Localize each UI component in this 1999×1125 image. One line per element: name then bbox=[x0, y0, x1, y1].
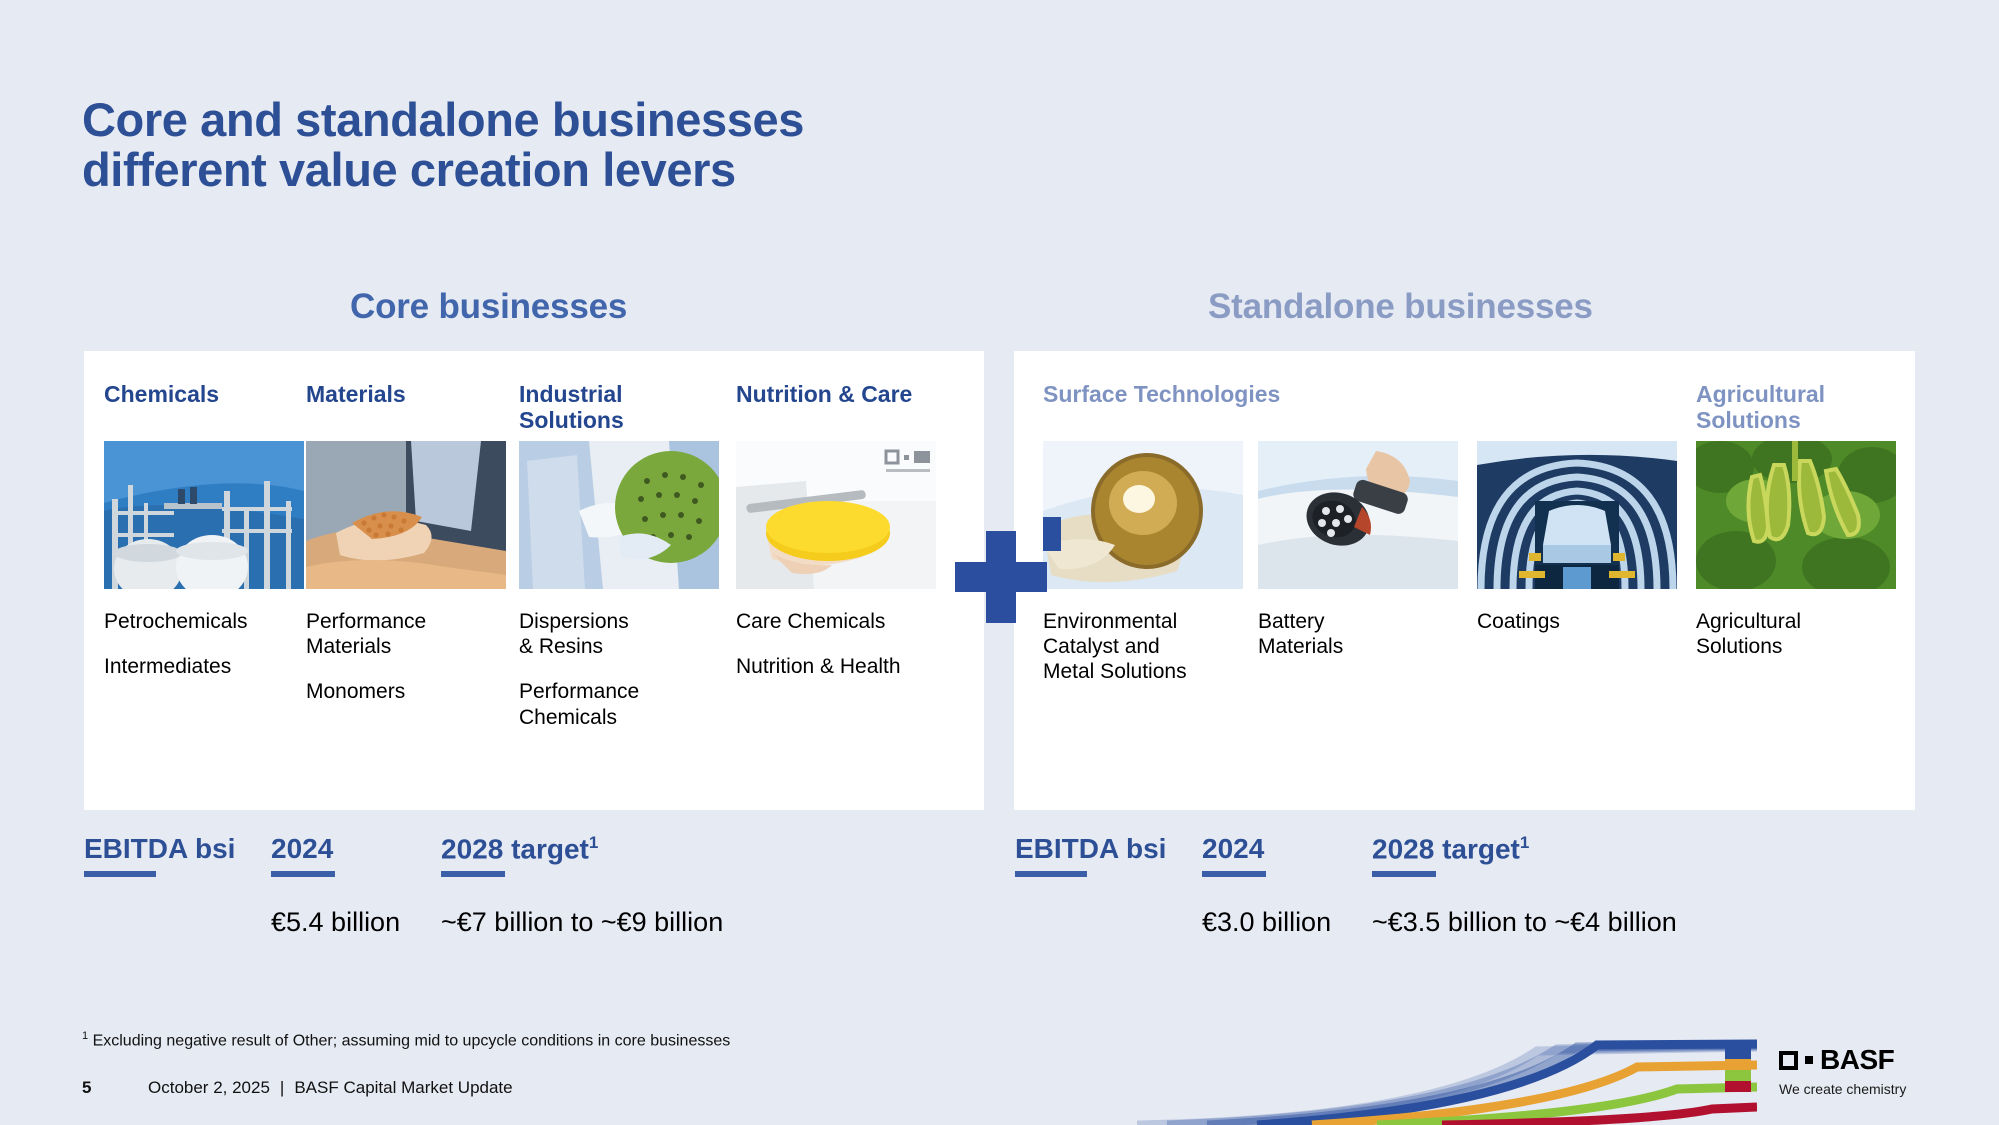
core-item: Monomers bbox=[306, 679, 506, 704]
footnote-marker: 1 bbox=[82, 1030, 88, 1042]
core-item: Nutrition & Health bbox=[736, 654, 936, 679]
title-line-2: different value creation levers bbox=[82, 145, 1282, 195]
page-title: Core and standalone businesses different… bbox=[82, 95, 1282, 196]
yellow-soap-bar-photo bbox=[736, 441, 936, 589]
standalone-item: Battery Materials bbox=[1258, 609, 1458, 659]
core-column-industrial-solutions: Industrial Solutions bbox=[519, 381, 719, 750]
standalone-column-coatings: Coatings bbox=[1477, 381, 1677, 654]
footer-event: BASF Capital Market Update bbox=[294, 1078, 512, 1098]
standalone-ebitda-label: EBITDA bsi bbox=[1015, 833, 1185, 865]
basf-color-stripes bbox=[1725, 1048, 1751, 1092]
footer-date: October 2, 2025 bbox=[148, 1078, 270, 1098]
core-item: Performance Chemicals bbox=[519, 679, 719, 729]
standalone-ebitda-target-text: 2028 target bbox=[1372, 833, 1520, 864]
basf-wordmark-text: BASF bbox=[1820, 1046, 1894, 1074]
core-businesses-heading: Core businesses bbox=[350, 287, 627, 327]
core-ebitda-2028-cell: 2028 target1 ~€7 billion to ~€9 billion bbox=[441, 833, 861, 877]
underline-bar bbox=[84, 871, 156, 877]
basf-logo: BASF We create chemistry bbox=[1779, 1046, 1929, 1097]
core-column-nutrition-care: Nutrition & Care bbox=[736, 381, 936, 699]
core-ebitda-target-text: 2028 target bbox=[441, 833, 589, 864]
standalone-column-environmental-catalyst: Surface Technologies Environmental Catal… bbox=[1043, 381, 1243, 705]
gold-catalyst-honeycomb-photo bbox=[1043, 441, 1243, 589]
page-number: 5 bbox=[82, 1078, 148, 1098]
semiconductor-wafer-photo bbox=[519, 441, 719, 589]
core-item: Dispersions & Resins bbox=[519, 609, 719, 659]
core-ebitda-target-label: 2028 target1 bbox=[441, 833, 861, 865]
footnote: 1 Excluding negative result of Other; as… bbox=[82, 1030, 730, 1050]
core-ebitda-label-cell: EBITDA bsi bbox=[84, 833, 254, 877]
footer: 5 October 2, 2025 | BASF Capital Market … bbox=[82, 1078, 513, 1098]
standalone-item: Agricultural Solutions bbox=[1696, 609, 1896, 659]
basf-ribbon-graphic bbox=[1137, 1015, 1757, 1125]
core-businesses-panel: Chemicals bbox=[84, 351, 984, 810]
hands-holding-granules-photo bbox=[306, 441, 506, 589]
core-item: Care Chemicals bbox=[736, 609, 936, 634]
soybean-pods-photo bbox=[1696, 441, 1896, 589]
title-line-1: Core and standalone businesses bbox=[82, 95, 1282, 145]
core-ebitda-2028-value: ~€7 billion to ~€9 billion bbox=[441, 907, 723, 938]
footnote-marker: 1 bbox=[1520, 833, 1529, 852]
standalone-ebitda-2024-value: €3.0 billion bbox=[1202, 907, 1331, 938]
basf-square-icon bbox=[1779, 1051, 1798, 1070]
standalone-ebitda-2028-value: ~€3.5 billion to ~€4 billion bbox=[1372, 907, 1677, 938]
underline-bar bbox=[1015, 871, 1087, 877]
core-column-header: Chemicals bbox=[104, 381, 304, 437]
plus-icon bbox=[955, 531, 1047, 623]
core-column-header: Industrial Solutions bbox=[519, 381, 719, 437]
underline-bar bbox=[441, 871, 505, 877]
ev-charging-plug-photo bbox=[1258, 441, 1458, 589]
standalone-ebitda-2028-cell: 2028 target1 ~€3.5 billion to ~€4 billio… bbox=[1372, 833, 1832, 877]
standalone-item: Environmental Catalyst and Metal Solutio… bbox=[1043, 609, 1243, 685]
standalone-item: Coatings bbox=[1477, 609, 1677, 634]
automotive-paint-line-photo bbox=[1477, 441, 1677, 589]
core-item: Intermediates bbox=[104, 654, 304, 679]
core-ebitda-2024-value: €5.4 billion bbox=[271, 907, 400, 938]
core-column-chemicals: Chemicals bbox=[104, 381, 304, 699]
core-ebitda-year-label: 2024 bbox=[271, 833, 461, 865]
core-ebitda-label: EBITDA bsi bbox=[84, 833, 254, 865]
basf-tagline: We create chemistry bbox=[1779, 1081, 1929, 1097]
core-column-header: Nutrition & Care bbox=[736, 381, 936, 437]
core-column-header: Materials bbox=[306, 381, 506, 437]
standalone-column-battery-materials: Battery Materials bbox=[1258, 381, 1458, 679]
standalone-businesses-panel: Surface Technologies Agricultural Soluti… bbox=[1014, 351, 1915, 810]
core-item: Performance Materials bbox=[306, 609, 506, 659]
standalone-ebitda-2024-cell: 2024 €3.0 billion bbox=[1202, 833, 1392, 877]
basf-wordmark: BASF bbox=[1779, 1046, 1929, 1074]
underline-bar bbox=[1372, 871, 1436, 877]
core-column-materials: Materials bbox=[306, 381, 506, 725]
core-item: Petrochemicals bbox=[104, 609, 304, 634]
core-ebitda-2024-cell: 2024 €5.4 billion bbox=[271, 833, 461, 877]
standalone-ebitda-label-cell: EBITDA bsi bbox=[1015, 833, 1185, 877]
basf-dot-icon bbox=[1805, 1056, 1813, 1064]
underline-bar bbox=[271, 871, 335, 877]
petrochemical-plant-photo bbox=[104, 441, 304, 589]
underline-bar bbox=[1202, 871, 1266, 877]
standalone-ebitda-target-label: 2028 target1 bbox=[1372, 833, 1832, 865]
footer-separator: | bbox=[270, 1078, 294, 1098]
footnote-text: Excluding negative result of Other; assu… bbox=[93, 1032, 731, 1049]
footnote-marker: 1 bbox=[589, 833, 598, 852]
standalone-businesses-heading: Standalone businesses bbox=[1208, 287, 1593, 327]
standalone-column-agricultural-solutions: Agricultural Solutions bbox=[1696, 381, 1896, 679]
standalone-ebitda-year-label: 2024 bbox=[1202, 833, 1392, 865]
